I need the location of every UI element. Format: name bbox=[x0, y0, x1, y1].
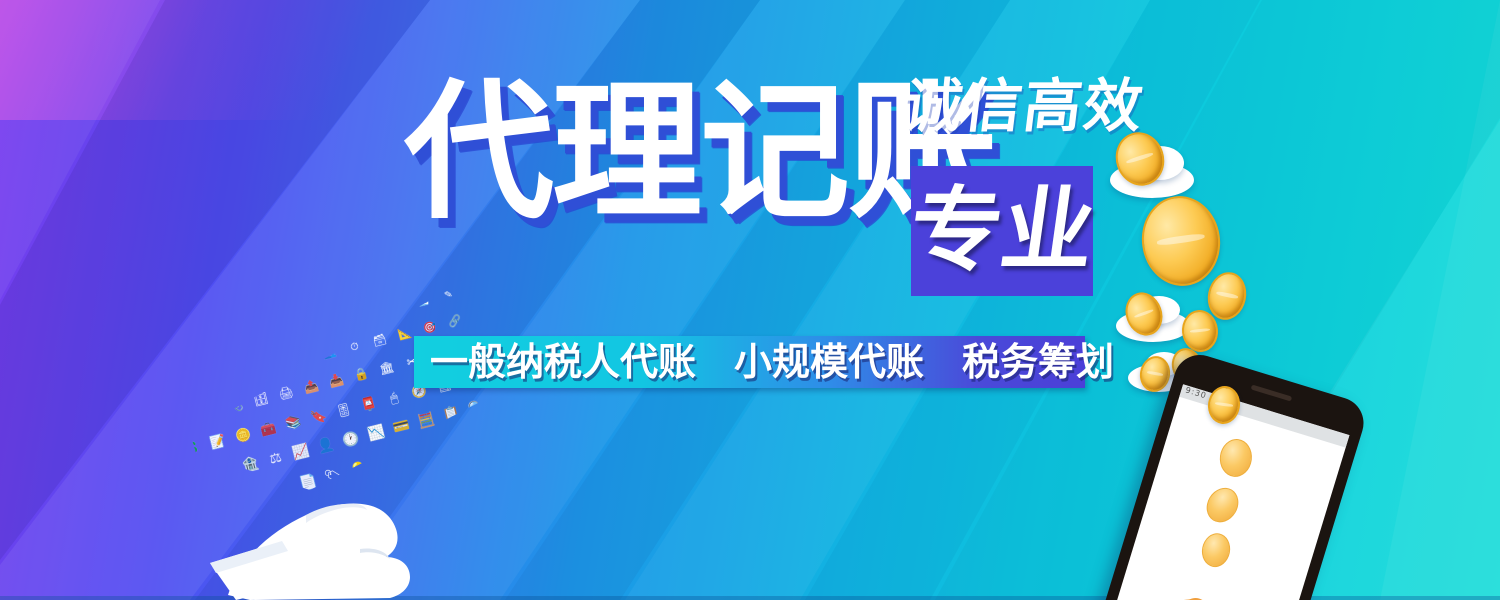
megaphone-icon-71: 📋 bbox=[442, 406, 462, 423]
megaphone-icon-34: 📐 bbox=[397, 328, 413, 342]
megaphone-icon-42: 📤 bbox=[303, 380, 320, 395]
megaphone-icon-53: 📚 bbox=[284, 415, 302, 431]
megaphone-icon-29: 🔑 bbox=[272, 359, 288, 373]
megaphone-icon-5: 📈 bbox=[260, 307, 273, 318]
megaphone-icon-32: ⏱ bbox=[349, 341, 360, 354]
coins-phone-illustration: 9:30 bbox=[1090, 120, 1420, 600]
megaphone-icon-35: 🎯 bbox=[422, 322, 438, 336]
megaphone-icon-43: 📥 bbox=[328, 374, 345, 389]
megaphone-icon-3: 🏦 bbox=[209, 320, 222, 331]
promo-banner: 📊💼🏦⚖📈👤🕐📉💳🧮📋🔍💰📱🖥⚙📄🏷💡📌🔔📦🧾✎💵🖩🗂📶🔑🛡👥⏱🗃📐🎯🔗💹🏧📎🗄… bbox=[0, 0, 1500, 600]
megaphone-icon-57: 🖱 bbox=[389, 391, 399, 405]
phone-status-bar: 9:30 bbox=[1179, 384, 1349, 447]
megaphone-icon-70: 🧮 bbox=[417, 413, 437, 430]
megaphone-icon-7: 🕐 bbox=[310, 295, 323, 306]
megaphone-icon-36: 🔗 bbox=[448, 316, 464, 330]
megaphone-icon-6: 👤 bbox=[285, 301, 298, 312]
megaphone-icon-39: 📎 bbox=[228, 399, 245, 414]
megaphone-icon-4: ⚖ bbox=[236, 314, 246, 325]
megaphone-icon-33: 🗃 bbox=[372, 334, 388, 348]
megaphone-icon-55: 🎚 bbox=[334, 402, 353, 418]
megaphone-icon-20: 📌 bbox=[341, 314, 355, 327]
megaphone-icon-30: 🛡 bbox=[297, 353, 313, 367]
megaphone-icon-26: 🖩 bbox=[199, 379, 208, 391]
megaphone-icon-17: 📄 bbox=[265, 333, 279, 346]
screen-coin-2 bbox=[1200, 482, 1244, 528]
hand-icon bbox=[210, 445, 445, 600]
megaphone-icon-19: 💡 bbox=[316, 320, 330, 333]
megaphone-icon-16: ⚙ bbox=[242, 340, 253, 352]
screen-coin-1 bbox=[1218, 437, 1254, 479]
megaphone-icon-45: 🏛 bbox=[378, 362, 395, 377]
megaphone-icon-95: 🎯 bbox=[456, 467, 478, 486]
megaphone-icon-41: 🖨 bbox=[278, 387, 295, 402]
megaphone-icon-38: 🏧 bbox=[202, 406, 219, 421]
megaphone-icon-28: 📶 bbox=[246, 366, 262, 380]
megaphone-icon-8: 📉 bbox=[335, 289, 348, 300]
megaphone-illustration: 📊💼🏦⚖📈👤🕐📉💳🧮📋🔍💰📱🖥⚙📄🏷💡📌🔔📦🧾✎💵🖩🗂📶🔑🛡👥⏱🗃📐🎯🔗💹🏧📎🗄… bbox=[190, 285, 480, 600]
status-badge: 专业 bbox=[911, 166, 1093, 296]
megaphone-icon-44: 🔒 bbox=[353, 368, 370, 383]
megaphone-icon-56: 📮 bbox=[360, 396, 378, 412]
megaphone-icon-68: 📉 bbox=[367, 425, 387, 442]
megaphone-icon-54: 🔖 bbox=[309, 409, 327, 425]
coin-icon-2 bbox=[1136, 191, 1226, 291]
megaphone-icon-31: 👥 bbox=[322, 347, 338, 361]
phone-speaker bbox=[1251, 384, 1293, 401]
megaphone-icon-27: 🗂 bbox=[221, 372, 237, 386]
piggy-bank-icon bbox=[1114, 565, 1296, 600]
subtitle-text: 一般纳税人代账 小规模代账 税务筹划 bbox=[430, 343, 1114, 381]
megaphone-icon-15: 🖥 bbox=[215, 345, 230, 358]
megaphone-icon-21: 🔔 bbox=[366, 308, 380, 321]
megaphone-icon-52: 🧰 bbox=[259, 421, 277, 437]
megaphone-icon-61: 📊 bbox=[190, 469, 210, 486]
megaphone-icon-40: 🗄 bbox=[253, 393, 270, 408]
megaphone-icon-51: 🪙 bbox=[234, 427, 252, 443]
status-badge-label: 专业 bbox=[904, 185, 1101, 277]
megaphone-icon-24: ✎ bbox=[443, 290, 453, 302]
screen-coin-3 bbox=[1199, 531, 1233, 570]
megaphone-icon-69: 💳 bbox=[392, 419, 412, 436]
subtitle-bar: 一般纳税人代账 小规模代账 税务筹划 bbox=[414, 336, 1085, 388]
megaphone-icon-23: 🧾 bbox=[416, 295, 430, 308]
megaphone-icon-14: 📱 bbox=[190, 352, 204, 365]
megaphone-icon-18: 🏷 bbox=[290, 327, 305, 340]
megaphone-icon-22: 📦 bbox=[391, 302, 405, 315]
megaphone-icon-83: 🧾 bbox=[449, 436, 470, 454]
